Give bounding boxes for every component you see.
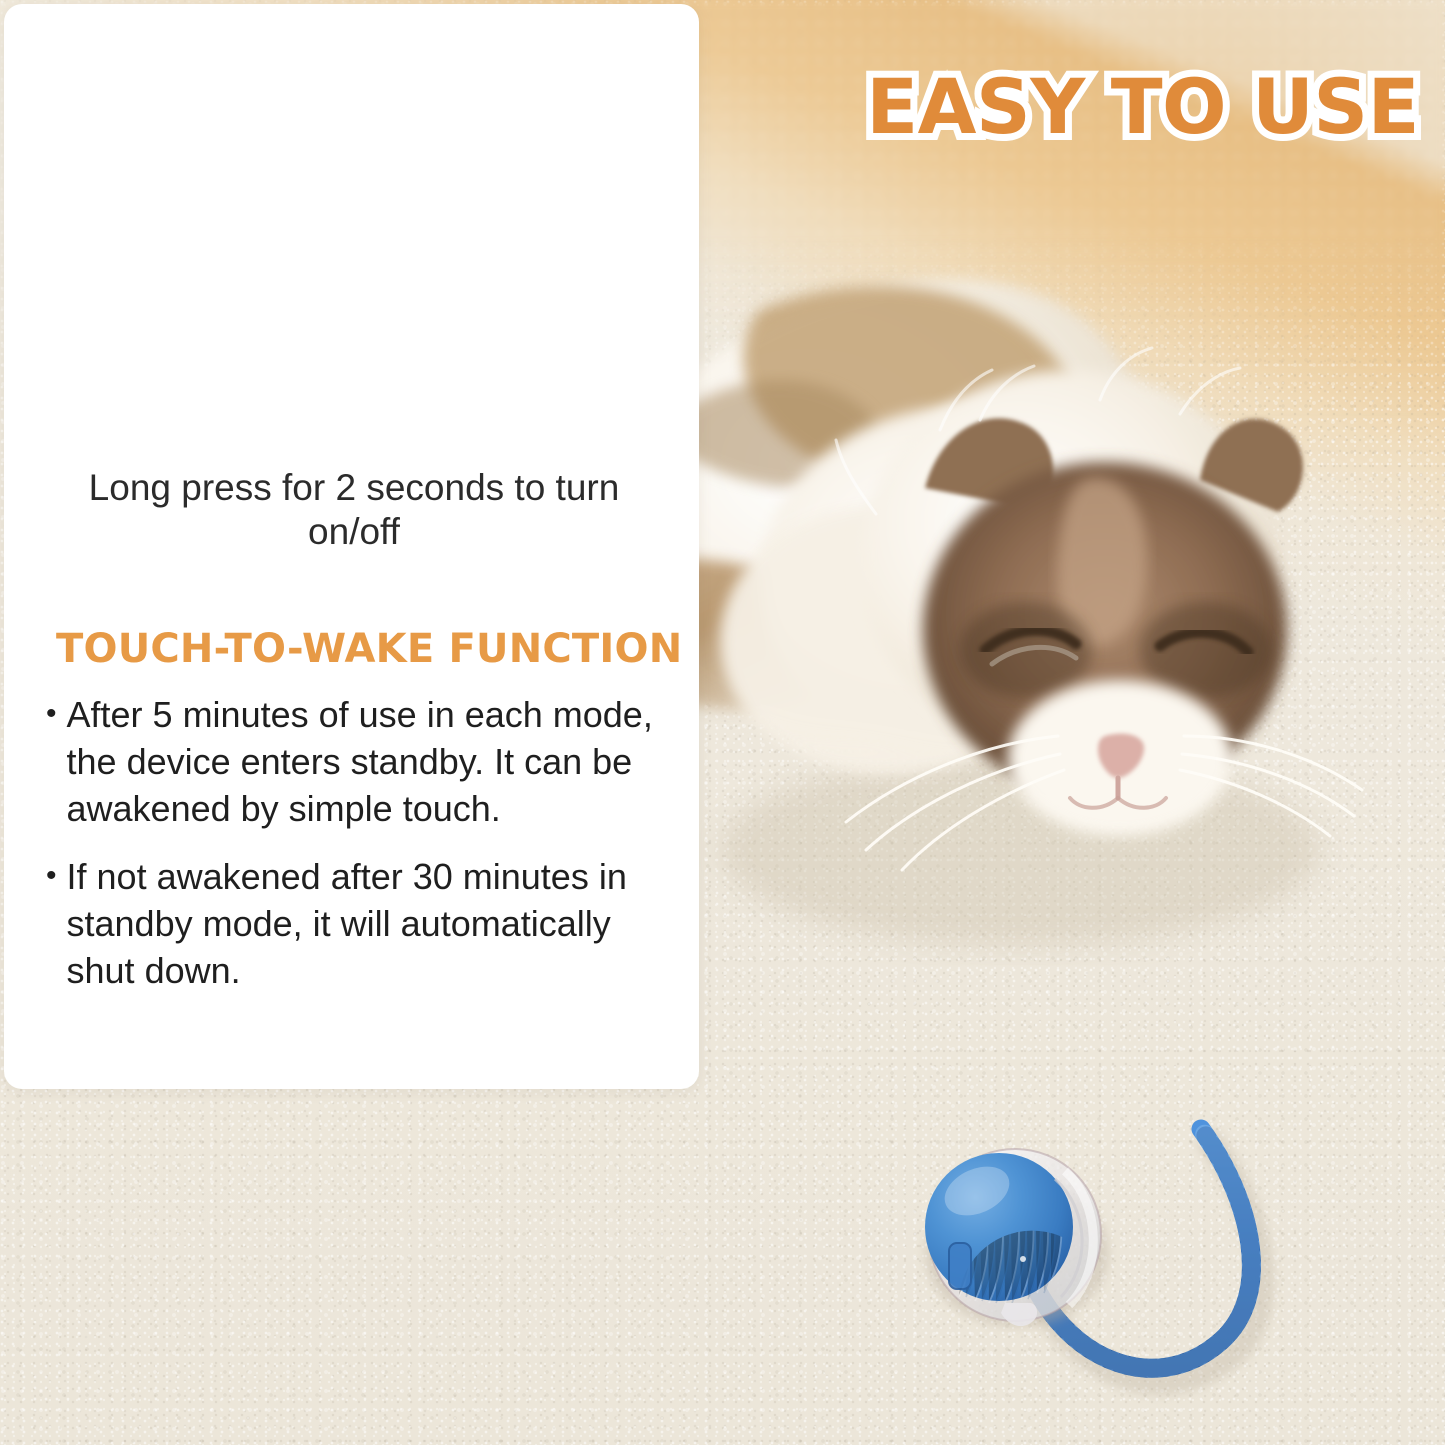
power-button-caption: Long press for 2 seconds to turn on/off <box>56 466 652 555</box>
bullet-text: After 5 minutes of use in each mode, the… <box>67 692 654 832</box>
cat-photo-subject <box>640 250 1440 970</box>
bullet-text: If not awakened after 30 minutes in stan… <box>67 854 654 994</box>
charging-contact-left <box>194 360 246 390</box>
list-item: • If not awakened after 30 minutes in st… <box>46 854 654 994</box>
feature-bullet-list: • After 5 minutes of use in each mode, t… <box>46 692 654 1017</box>
dashed-highlight-circle <box>282 217 434 369</box>
section-heading-touch-to-wake: TOUCH-TO-WAKE FUNCTION <box>56 626 656 672</box>
charging-contact-right <box>460 360 512 390</box>
page-title: EASY TO USE <box>866 62 1419 151</box>
infographic-canvas: EASY TO USE <box>0 0 1445 1445</box>
product-ball-toy-photo <box>905 1075 1325 1445</box>
bullet-marker-icon: • <box>46 854 57 898</box>
product-power-button-closeup <box>68 74 640 442</box>
list-item: • After 5 minutes of use in each mode, t… <box>46 692 654 832</box>
bullet-marker-icon: • <box>46 692 57 736</box>
